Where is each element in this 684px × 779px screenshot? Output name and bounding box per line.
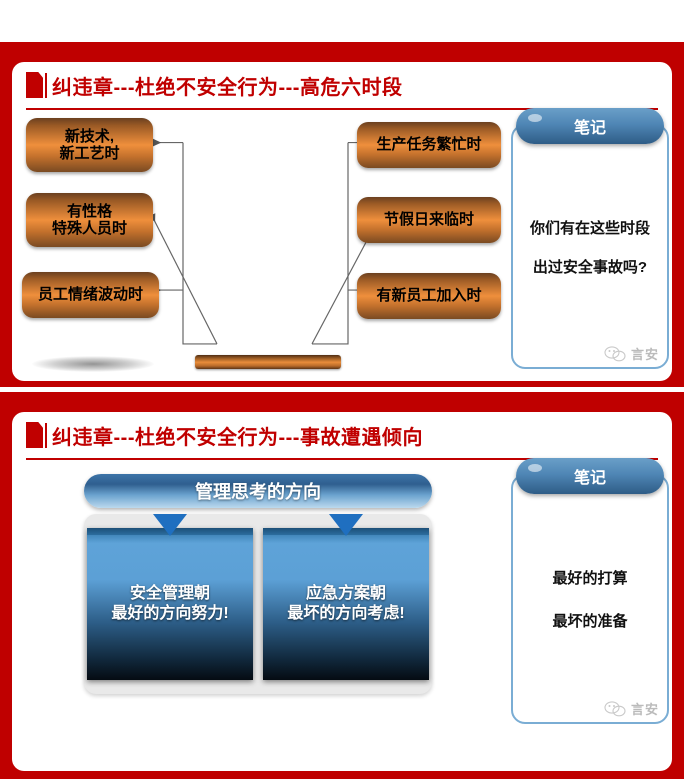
direction-banner-label: 管理思考的方向 <box>195 478 321 504</box>
notes-line-4: 最坏的准备 <box>552 610 627 631</box>
risk-box-left-2-line-2: 特殊人员时 <box>52 220 127 237</box>
risk-box-right-3[interactable]: 有新员工加入时 <box>357 273 501 319</box>
left-column-shadow <box>32 356 154 372</box>
risk-box-right-2-line-1: 节假日来临时 <box>384 211 474 228</box>
risk-box-right-3-line-1: 有新员工加入时 <box>376 287 481 304</box>
slide-1-diagram: 新技术, 新工艺时 有性格 特殊人员时 员工情绪波动时 <box>12 112 672 381</box>
panel-worst-case[interactable]: 应急方案朝 最坏的方向考虑! <box>263 528 429 680</box>
direction-banner[interactable]: 管理思考的方向 <box>84 474 432 508</box>
notes-line-3: 最好的打算 <box>552 567 627 588</box>
notes-line-1: 你们有在这些时段 <box>530 217 650 238</box>
risk-box-left-1-line-2: 新工艺时 <box>59 145 119 162</box>
risk-box-right-2[interactable]: 节假日来临时 <box>357 197 501 243</box>
slide-1-card: 纠违章---杜绝不安全行为---高危六时段 <box>12 62 672 381</box>
watermark-1: 言安 <box>603 344 659 363</box>
risk-box-left-3[interactable]: 员工情绪波动时 <box>22 272 159 318</box>
arrow-down-icon-left <box>153 514 187 536</box>
risk-box-left-3-line-1: 员工情绪波动时 <box>38 286 143 303</box>
watermark-2: 言安 <box>603 699 659 718</box>
risk-box-left-1[interactable]: 新技术, 新工艺时 <box>26 118 153 172</box>
slide-1-title-row: 纠违章---杜绝不安全行为---高危六时段 <box>12 62 672 108</box>
panel-worst-case-line-2: 最坏的方向考虑! <box>287 604 404 624</box>
slide-high-risk-periods: 纠违章---杜绝不安全行为---高危六时段 <box>0 42 684 387</box>
risk-box-left-1-line-1: 新技术, <box>59 128 119 145</box>
slide-2-card: 纠违章---杜绝不安全行为---事故遭遇倾向 管理思考的方向 安全管理朝 最好的… <box>12 412 672 771</box>
watermark-text-2: 言安 <box>631 699 659 718</box>
flag-icon <box>26 72 43 98</box>
wechat-icon <box>603 345 629 363</box>
panel-best-effort-line-1: 安全管理朝 <box>111 584 228 604</box>
center-base-bar <box>195 355 341 369</box>
notes-line-2: 出过安全事故吗? <box>533 256 647 277</box>
arrow-down-icon-right <box>329 514 363 536</box>
panel-best-effort-line-2: 最好的方向努力! <box>111 604 228 624</box>
notes-panel-2: 笔记 最好的打算 最坏的准备 言安 <box>511 474 669 724</box>
slide-2-title-row: 纠违章---杜绝不安全行为---事故遭遇倾向 <box>12 412 672 458</box>
notes-panel-1: 笔记 你们有在这些时段 出过安全事故吗? 言安 <box>511 124 669 369</box>
slide-accident-tendency: 纠违章---杜绝不安全行为---事故遭遇倾向 管理思考的方向 安全管理朝 最好的… <box>0 392 684 779</box>
notes-tab-2: 笔记 <box>516 458 664 494</box>
notes-body-1: 你们有在这些时段 出过安全事故吗? <box>513 152 667 341</box>
risk-box-left-2-line-1: 有性格 <box>52 203 127 220</box>
notes-body-2: 最好的打算 最坏的准备 <box>513 502 667 696</box>
presentation-page: 纠违章---杜绝不安全行为---高危六时段 <box>0 0 684 779</box>
slide-2-diagram: 管理思考的方向 安全管理朝 最好的方向努力! 应急方案朝 最 <box>12 462 672 771</box>
wechat-icon <box>603 700 629 718</box>
flag-icon <box>26 422 43 448</box>
slide-2-title: 纠违章---杜绝不安全行为---事故遭遇倾向 <box>52 421 423 450</box>
panel-best-effort[interactable]: 安全管理朝 最好的方向努力! <box>87 528 253 680</box>
panel-worst-case-line-1: 应急方案朝 <box>287 584 404 604</box>
notes-tab-1: 笔记 <box>516 108 664 144</box>
slide-1-title: 纠违章---杜绝不安全行为---高危六时段 <box>52 71 402 100</box>
watermark-text-1: 言安 <box>631 344 659 363</box>
risk-box-left-2[interactable]: 有性格 特殊人员时 <box>26 193 153 247</box>
risk-box-right-1-line-1: 生产任务繁忙时 <box>376 136 481 153</box>
risk-box-right-1[interactable]: 生产任务繁忙时 <box>357 122 501 168</box>
